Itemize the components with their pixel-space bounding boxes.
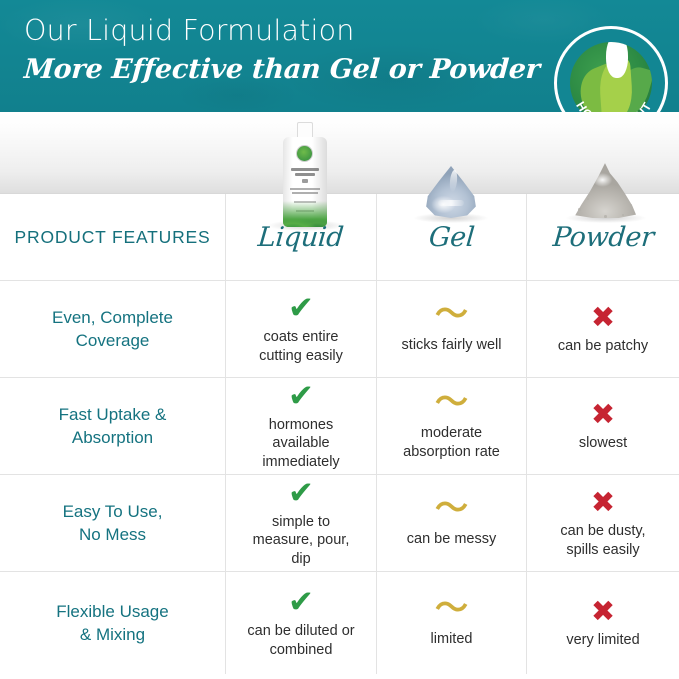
- column-header-liquid: Liquid: [226, 194, 377, 280]
- powder-cell: ✖ can be patchy: [527, 281, 679, 377]
- bottle-logo-icon: [296, 145, 313, 162]
- check-icon: ✔: [288, 478, 314, 508]
- comparison-table: PRODUCT FEATURES Liquid Gel Powder Even,…: [0, 194, 679, 679]
- cross-icon: ✖: [591, 487, 615, 517]
- banner-title-line1: Our Liquid Formulation: [24, 12, 564, 50]
- gel-cell: ～ can be messy: [377, 475, 527, 571]
- liquid-cell: ✔ can be diluted or combined: [226, 572, 377, 674]
- cross-icon: ✖: [591, 596, 615, 626]
- banner-title-line2: More Effective than Gel or Powder: [23, 50, 566, 90]
- bottle-label-text-line: [290, 188, 320, 190]
- table-row: Even, Complete Coverage ✔ coats entire c…: [0, 281, 679, 378]
- powder-cell: ✖ slowest: [527, 378, 679, 474]
- check-icon: ✔: [288, 293, 314, 323]
- gel-cell: ～ limited: [377, 572, 527, 674]
- cross-icon: ✖: [591, 399, 615, 429]
- liquid-cell: ✔ simple to measure, pour, dip: [226, 475, 377, 571]
- bottle-label-text-line: [295, 173, 315, 176]
- banner-text-block: Our Liquid Formulation More Effective th…: [24, 12, 564, 90]
- tilde-icon: ～: [435, 303, 468, 325]
- liquid-cell: ✔ hormones available immediately: [226, 378, 377, 474]
- gel-cell: ～ moderate absorption rate: [377, 378, 527, 474]
- bottle-label-text-line: [291, 168, 319, 171]
- tilde-icon: ～: [435, 497, 468, 519]
- column-header-powder: Powder: [527, 194, 679, 280]
- feature-cell: Easy To Use, No Mess: [0, 475, 226, 571]
- column-header-gel: Gel: [377, 194, 527, 280]
- bottle-cap-icon: [297, 122, 313, 138]
- column-header-feature: PRODUCT FEATURES: [0, 194, 226, 280]
- product-images-row: [0, 112, 679, 194]
- table-row: Easy To Use, No Mess ✔ simple to measure…: [0, 475, 679, 572]
- infographic-page: Our Liquid Formulation More Effective th…: [0, 0, 679, 679]
- logo-top-text: HOUSEPLANT: [557, 29, 652, 32]
- liquid-cell: ✔ coats entire cutting easily: [226, 281, 377, 377]
- bottle-label-text-line: [302, 179, 308, 183]
- feature-cell: Fast Uptake & Absorption: [0, 378, 226, 474]
- check-icon: ✔: [288, 381, 314, 411]
- tilde-icon: ～: [435, 597, 468, 619]
- table-row: Flexible Usage & Mixing ✔ can be diluted…: [0, 572, 679, 674]
- gel-cell: ～ sticks fairly well: [377, 281, 527, 377]
- powder-cell: ✖ can be dusty, spills easily: [527, 475, 679, 571]
- powder-cell: ✖ very limited: [527, 572, 679, 674]
- table-row: Fast Uptake & Absorption ✔ hormones avai…: [0, 378, 679, 475]
- tilde-icon: ～: [435, 391, 468, 413]
- feature-cell: Flexible Usage & Mixing: [0, 572, 226, 674]
- feature-cell: Even, Complete Coverage: [0, 281, 226, 377]
- table-header-row: PRODUCT FEATURES Liquid Gel Powder: [0, 194, 679, 281]
- check-icon: ✔: [288, 587, 314, 617]
- cross-icon: ✖: [591, 302, 615, 332]
